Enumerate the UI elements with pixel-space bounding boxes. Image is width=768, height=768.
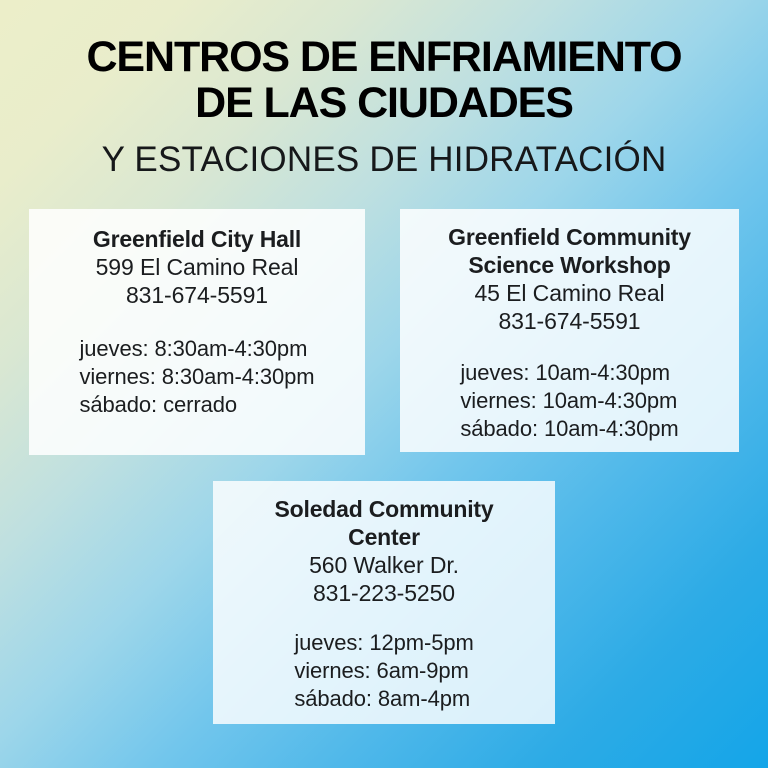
hours-line-friday: viernes: 8:30am-4:30pm	[79, 363, 314, 391]
location-heading: Soledad Community Center 560 Walker Dr. …	[213, 495, 555, 607]
location-name: Soledad Community Center	[213, 495, 555, 551]
poster-title-line-1: CENTROS DE ENFRIAMIENTO	[0, 34, 768, 80]
poster-header: CENTROS DE ENFRIAMIENTO DE LAS CIUDADES …	[0, 34, 768, 180]
location-name: Greenfield Community Science Workshop	[400, 223, 739, 279]
hours-line-friday: viernes: 10am-4:30pm	[460, 387, 678, 415]
location-hours: jueves: 10am-4:30pm viernes: 10am-4:30pm…	[460, 359, 678, 443]
location-phone: 831-674-5591	[400, 307, 739, 335]
location-heading: Greenfield Community Science Workshop 45…	[400, 223, 739, 335]
location-address: 599 El Camino Real	[29, 253, 365, 281]
location-heading: Greenfield City Hall 599 El Camino Real …	[29, 225, 365, 309]
hours-line-saturday: sábado: cerrado	[79, 391, 314, 419]
hours-line-saturday: sábado: 8am-4pm	[294, 685, 473, 713]
poster-title-line-2: DE LAS CIUDADES	[0, 80, 768, 126]
location-name: Greenfield City Hall	[29, 225, 365, 253]
location-card-greenfield-city-hall: Greenfield City Hall 599 El Camino Real …	[29, 209, 365, 455]
location-card-soledad-community-center: Soledad Community Center 560 Walker Dr. …	[213, 481, 555, 724]
location-phone: 831-223-5250	[213, 579, 555, 607]
location-card-greenfield-community-science-workshop: Greenfield Community Science Workshop 45…	[400, 209, 739, 452]
location-hours: jueves: 8:30am-4:30pm viernes: 8:30am-4:…	[79, 335, 314, 419]
hours-line-thursday: jueves: 12pm-5pm	[294, 629, 473, 657]
location-address: 45 El Camino Real	[400, 279, 739, 307]
location-phone: 831-674-5591	[29, 281, 365, 309]
location-hours: jueves: 12pm-5pm viernes: 6am-9pm sábado…	[294, 629, 473, 713]
hours-line-thursday: jueves: 10am-4:30pm	[460, 359, 678, 387]
hours-line-thursday: jueves: 8:30am-4:30pm	[79, 335, 314, 363]
poster-canvas: CENTROS DE ENFRIAMIENTO DE LAS CIUDADES …	[0, 0, 768, 768]
hours-line-friday: viernes: 6am-9pm	[294, 657, 473, 685]
location-address: 560 Walker Dr.	[213, 551, 555, 579]
poster-subtitle: Y ESTACIONES DE HIDRATACIÓN	[0, 140, 768, 180]
hours-line-saturday: sábado: 10am-4:30pm	[460, 415, 678, 443]
